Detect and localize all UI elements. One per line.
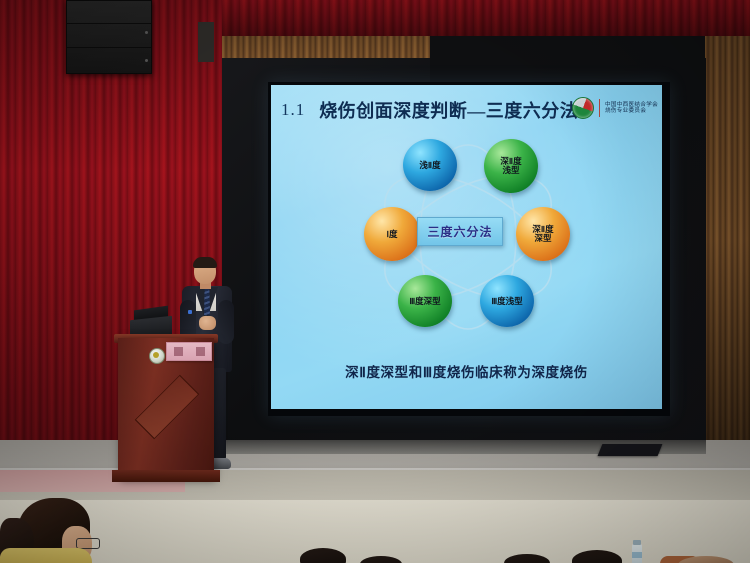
bubble-superficial-second-degree: 浅Ⅱ度: [403, 139, 457, 191]
bubble-label-line2: 浅型: [500, 166, 521, 175]
organization-logo: 中国中西医结合学会 烧伤专业委员会: [572, 97, 658, 119]
audience-woman-jacket: [0, 548, 92, 563]
nameplate-glyph-2: [196, 347, 205, 356]
podium-nameplate: [166, 342, 212, 361]
water-bottle-label: [632, 552, 642, 558]
bubble-first-degree: Ⅰ度: [364, 207, 420, 261]
bubble-deep-second-degree-deep-type: 深Ⅱ度 深型: [516, 207, 570, 261]
water-bottle-cap: [633, 540, 641, 545]
presenter-hair: [193, 257, 217, 268]
diagram-center-label: 三度六分法: [417, 217, 503, 246]
presenter-lapel-badge: [188, 310, 192, 314]
nameplate-glyph-1: [174, 347, 183, 356]
logo-divider: [599, 99, 600, 117]
line-array-speaker: [66, 0, 152, 74]
podium-emblem-core: [153, 352, 159, 358]
bubble-third-degree-deep-type: Ⅲ度深型: [398, 275, 452, 327]
stage-floor-monitor: [598, 444, 663, 456]
auditorium-photo-scene: 1.1 烧伤创面深度判断—三度六分法 中国中西医结合学会 烧伤专业委员会 浅Ⅱ度: [0, 0, 750, 563]
bubble-label: Ⅲ度深型: [409, 297, 440, 306]
organization-name: 中国中西医结合学会 烧伤专业委员会: [605, 102, 658, 115]
bubble-label: Ⅰ度: [386, 230, 397, 239]
bubble-label: Ⅲ度浅型: [491, 297, 522, 306]
bubble-third-degree-shallow-type: Ⅲ度浅型: [480, 275, 534, 327]
slide-caption: 深Ⅱ度深型和Ⅲ度烧伤临床称为深度烧伤: [271, 361, 662, 381]
six-degree-diagram: 浅Ⅱ度 深Ⅱ度 浅型 Ⅰ度 深Ⅱ度 深型 Ⅲ度深型 Ⅲ度浅型: [356, 137, 586, 342]
presenter-necktie: [204, 289, 210, 315]
projection-screen: 1.1 烧伤创面深度判断—三度六分法 中国中西医结合学会 烧伤专业委员会 浅Ⅱ度: [271, 85, 662, 409]
stage-curtain-valance-shading: [150, 0, 750, 36]
presenter-hands: [199, 316, 216, 330]
podium-base: [112, 470, 220, 482]
audience-head: [300, 548, 346, 563]
presenter-right-arm: [218, 300, 234, 344]
slide-title: 烧伤创面深度判断—三度六分法: [319, 97, 578, 123]
bubble-label: 浅Ⅱ度: [419, 161, 440, 170]
organization-name-line2: 烧伤专业委员会: [605, 108, 658, 114]
bubble-deep-second-degree-shallow-type: 深Ⅱ度 浅型: [484, 139, 538, 193]
slide-number: 1.1: [281, 100, 305, 120]
bubble-label-line2: 深型: [532, 234, 553, 243]
society-emblem-icon: [572, 97, 594, 119]
center-label-text: 三度六分法: [427, 223, 492, 240]
wall-panel-accent: [198, 22, 214, 62]
